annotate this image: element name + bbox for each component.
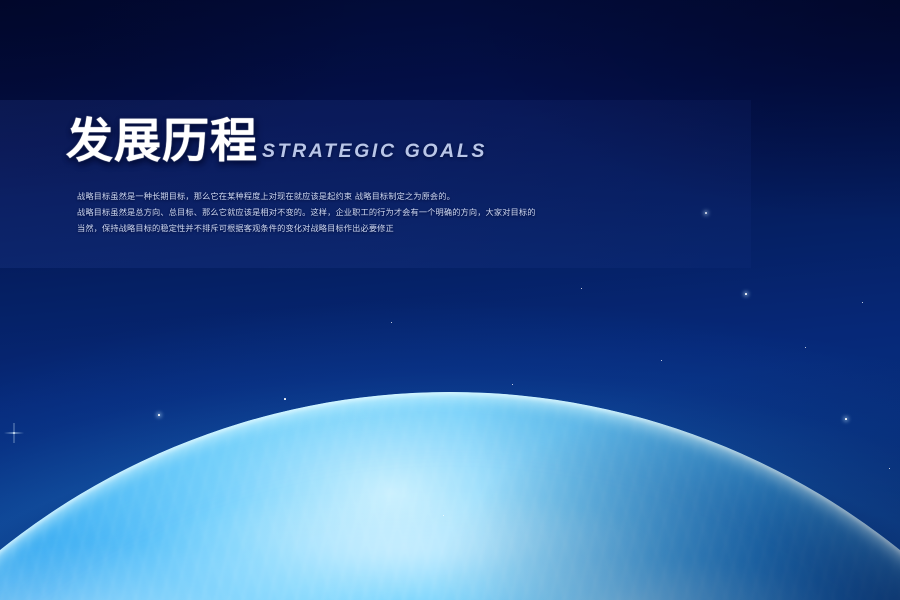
- space-background: [0, 0, 900, 600]
- body-line: 战略目标虽然是一种长期目标，那么它在某种程度上对现在就应该是起约束 战略目标制定…: [77, 188, 637, 204]
- page-title: 发展历程 STRATEGIC GOALS: [66, 118, 487, 165]
- headline-chinese: 发展历程: [66, 118, 258, 165]
- body-copy: 战略目标虽然是一种长期目标，那么它在某种程度上对现在就应该是起约束 战略目标制定…: [77, 188, 637, 236]
- body-line: 战略目标虽然是总方向、总目标、那么它就应该是相对不变的。这样，企业职工的行为才会…: [77, 204, 637, 220]
- body-line: 当然，保持战略目标的稳定性并不排斥可根据客观条件的变化对战略目标作出必要修正: [77, 220, 637, 236]
- headline-english: STRATEGIC GOALS: [262, 140, 487, 165]
- banner-image: 发展历程 STRATEGIC GOALS 战略目标虽然是一种长期目标，那么它在某…: [0, 0, 900, 600]
